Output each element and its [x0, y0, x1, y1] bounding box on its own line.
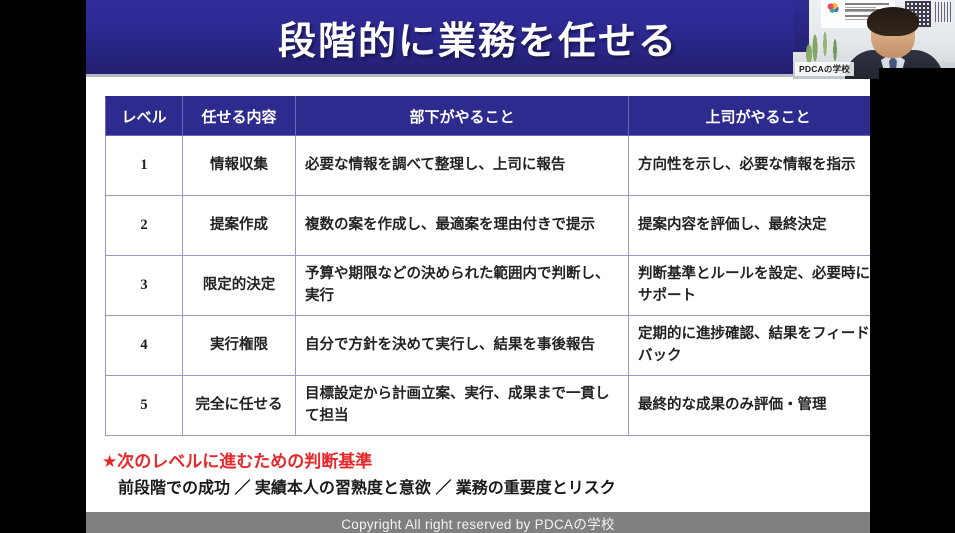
criteria-note-detail: 前段階での成功 ／ 実績本人の習熟度と意欲 ／ 業務の重要度とリスク: [118, 479, 862, 498]
table-header-row: レベル 任せる内容 部下がやること 上司がやること: [106, 97, 871, 136]
cell-subordinate: 目標設定から計画立案、実行、成果まで一貫して担当: [296, 376, 629, 436]
company-logo-icon: [827, 3, 839, 13]
cell-boss: 方向性を示し、必要な情報を指示: [629, 136, 871, 196]
column-header-subordinate: 部下がやること: [296, 97, 629, 136]
cell-subordinate: 予算や期限などの決められた範囲内で判断し、実行: [296, 256, 629, 316]
copyright-text: Copyright All right reserved by PDCAの学校: [341, 513, 615, 533]
delegation-level-table: レベル 任せる内容 部下がやること 上司がやること 1 情報収集 必要な情報を調…: [105, 96, 870, 436]
cell-level: 1: [106, 136, 183, 196]
copyright-bar: Copyright All right reserved by PDCAの学校: [86, 512, 870, 533]
criteria-note-block: ★次のレベルに進むための判断基準 前段階での成功 ／ 実績本人の習熟度と意欲 ／…: [102, 452, 862, 499]
criteria-note-heading: ★次のレベルに進むための判断基準: [102, 452, 862, 472]
cell-level: 2: [106, 196, 183, 256]
presenter-webcam-overlay[interactable]: PDCAの学校: [793, 0, 955, 79]
cell-boss: 定期的に進捗確認、結果をフィードバック: [629, 316, 871, 376]
table-body: 1 情報収集 必要な情報を調べて整理し、上司に報告 方向性を示し、必要な情報を指…: [106, 136, 871, 436]
video-stage: 段階的に業務を任せる レベル 任せる内容 部下がやること 上司がやること 1 情…: [0, 0, 955, 533]
cell-level: 4: [106, 316, 183, 376]
column-header-content: 任せる内容: [183, 97, 296, 136]
title-underline: [86, 74, 870, 77]
presentation-slide: 段階的に業務を任せる レベル 任せる内容 部下がやること 上司がやること 1 情…: [86, 0, 870, 533]
cell-content: 情報収集: [183, 136, 296, 196]
cell-boss: 判断基準とルールを設定、必要時にサポート: [629, 256, 871, 316]
table-row: 3 限定的決定 予算や期限などの決められた範囲内で判断し、実行 判断基準とルール…: [106, 256, 871, 316]
cell-content: 完全に任せる: [183, 376, 296, 436]
qr-code-secondary-icon: [935, 2, 951, 22]
cell-content: 実行権限: [183, 316, 296, 376]
cell-boss: 最終的な成果のみ評価・管理: [629, 376, 871, 436]
cell-level: 3: [106, 256, 183, 316]
table-row: 5 完全に任せる 目標設定から計画立案、実行、成果まで一貫して担当 最終的な成果…: [106, 376, 871, 436]
cell-subordinate: 必要な情報を調べて整理し、上司に報告: [296, 136, 629, 196]
column-header-level: レベル: [106, 97, 183, 136]
cell-subordinate: 複数の案を作成し、最適案を理由付きで提示: [296, 196, 629, 256]
slide-title: 段階的に業務を任せる: [278, 10, 678, 65]
table-row: 4 実行権限 自分で方針を決めて実行し、結果を事後報告 定期的に進捗確認、結果を…: [106, 316, 871, 376]
webcam-name-label: PDCAの学校: [795, 62, 854, 76]
cell-content: 限定的決定: [183, 256, 296, 316]
cell-content: 提案作成: [183, 196, 296, 256]
table-row: 2 提案作成 複数の案を作成し、最適案を理由付きで提示 提案内容を評価し、最終決…: [106, 196, 871, 256]
table-row: 1 情報収集 必要な情報を調べて整理し、上司に報告 方向性を示し、必要な情報を指…: [106, 136, 871, 196]
cell-level: 5: [106, 376, 183, 436]
slide-title-band: 段階的に業務を任せる: [86, 0, 870, 74]
webcam-letterbox-cutout: [879, 68, 955, 79]
cell-boss: 提案内容を評価し、最終決定: [629, 196, 871, 256]
cell-subordinate: 自分で方針を決めて実行し、結果を事後報告: [296, 316, 629, 376]
column-header-boss: 上司がやること: [629, 97, 871, 136]
presenter-hair: [867, 7, 919, 36]
